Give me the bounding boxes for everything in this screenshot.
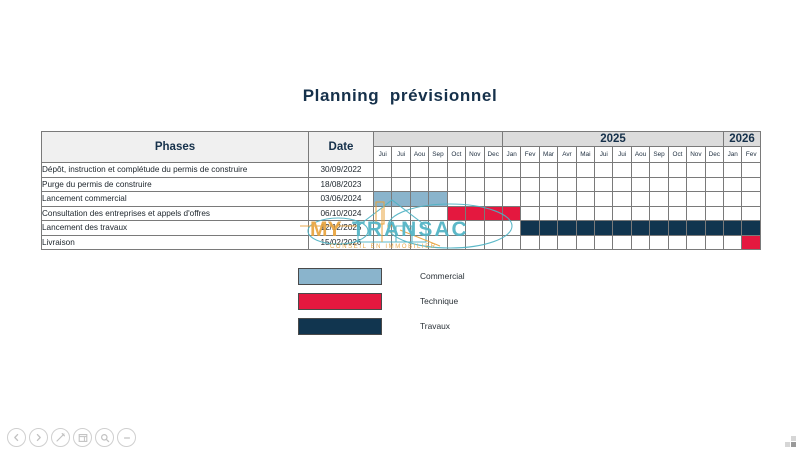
- phase-label: Lancement commercial: [42, 192, 309, 207]
- gantt-empty-cell: [650, 163, 668, 178]
- gantt-empty-cell: [558, 192, 576, 207]
- gantt-empty-cell: [631, 192, 649, 207]
- gantt-bar-segment-commercial: [429, 192, 447, 207]
- gantt-bar-segment-technique: [447, 206, 465, 221]
- legend-item-commercial: Commercial: [298, 268, 465, 284]
- gantt-empty-cell: [447, 163, 465, 178]
- gantt-empty-cell: [521, 206, 539, 221]
- table-row: Purge du permis de construire18/08/2023: [42, 177, 761, 192]
- gantt-empty-cell: [466, 163, 484, 178]
- phase-date: 18/08/2023: [309, 177, 374, 192]
- gantt-empty-cell: [668, 177, 686, 192]
- document-page: Planning prévisionnel Phases Date 202520…: [0, 0, 800, 425]
- legend-label-technique: Technique: [420, 296, 458, 306]
- gantt-empty-cell: [466, 221, 484, 236]
- month-header-2: Aou: [410, 147, 428, 163]
- gantt-empty-cell: [613, 206, 631, 221]
- year-group-2026: 2026: [724, 132, 761, 147]
- phase-date: 03/06/2024: [309, 192, 374, 207]
- column-header-date: Date: [309, 132, 374, 163]
- gantt-empty-cell: [650, 192, 668, 207]
- gantt-empty-cell: [502, 177, 520, 192]
- phase-date: 15/02/2026: [309, 235, 374, 250]
- month-header-16: Oct: [668, 147, 686, 163]
- gantt-bar-segment-technique: [466, 206, 484, 221]
- gantt-empty-cell: [429, 177, 447, 192]
- gantt-empty-cell: [668, 206, 686, 221]
- month-header-17: Nov: [687, 147, 705, 163]
- month-header-8: Fev: [521, 147, 539, 163]
- gantt-bar-segment-travaux: [668, 221, 686, 236]
- gantt-empty-cell: [484, 221, 502, 236]
- gantt-empty-cell: [521, 163, 539, 178]
- gantt-empty-cell: [466, 235, 484, 250]
- gantt-empty-cell: [484, 235, 502, 250]
- phase-label: Consultation des entreprises et appels d…: [42, 206, 309, 221]
- zoom-in-button[interactable]: [95, 428, 114, 447]
- gantt-bar-segment-travaux: [724, 221, 742, 236]
- gantt-empty-cell: [724, 192, 742, 207]
- phase-label: Purge du permis de construire: [42, 177, 309, 192]
- gantt-empty-cell: [631, 235, 649, 250]
- gantt-empty-cell: [705, 192, 723, 207]
- legend-label-commercial: Commercial: [420, 271, 465, 281]
- gantt-empty-cell: [447, 235, 465, 250]
- table-row: Lancement des travaux12/12/2025: [42, 221, 761, 236]
- gantt-empty-cell: [687, 206, 705, 221]
- gantt-empty-cell: [502, 192, 520, 207]
- gantt-empty-cell: [539, 163, 557, 178]
- chevron-right-icon: [34, 433, 43, 442]
- gantt-empty-cell: [410, 221, 428, 236]
- month-header-5: Nov: [466, 147, 484, 163]
- gantt-bar-segment-commercial: [374, 192, 392, 207]
- phase-date: 12/12/2025: [309, 221, 374, 236]
- legend-item-technique: Technique: [298, 293, 465, 309]
- month-header-3: Sep: [429, 147, 447, 163]
- gantt-empty-cell: [502, 235, 520, 250]
- phase-label: Dépôt, instruction et complétude du perm…: [42, 163, 309, 178]
- month-header-18: Dec: [705, 147, 723, 163]
- gantt-empty-cell: [705, 163, 723, 178]
- legend-swatch-technique: [298, 293, 382, 310]
- gantt-empty-cell: [595, 192, 613, 207]
- gantt-empty-cell: [502, 221, 520, 236]
- page-title: Planning prévisionnel: [0, 86, 800, 106]
- phase-date: 30/09/2022: [309, 163, 374, 178]
- table-head: Phases Date 20252026 JuiJuiAouSepOctNovD…: [42, 132, 761, 163]
- month-header-19: Jan: [724, 147, 742, 163]
- gantt-empty-cell: [687, 177, 705, 192]
- gantt-empty-cell: [613, 235, 631, 250]
- gantt-empty-cell: [466, 192, 484, 207]
- gantt-empty-cell: [742, 163, 761, 178]
- gantt-empty-cell: [447, 177, 465, 192]
- chevron-left-icon: [12, 433, 21, 442]
- gantt-empty-cell: [668, 235, 686, 250]
- legend-swatch-travaux: [298, 318, 382, 335]
- gantt-empty-cell: [429, 206, 447, 221]
- gantt-empty-cell: [484, 163, 502, 178]
- zoom-out-button[interactable]: [117, 428, 136, 447]
- month-header-13: Jui: [613, 147, 631, 163]
- gantt-empty-cell: [742, 177, 761, 192]
- gantt-empty-cell: [410, 235, 428, 250]
- gantt-empty-cell: [558, 206, 576, 221]
- gantt-empty-cell: [521, 192, 539, 207]
- year-group-2025: 2025: [502, 132, 723, 147]
- gantt-bar-segment-commercial: [410, 192, 428, 207]
- resize-grip[interactable]: [785, 436, 796, 447]
- pen-icon: [55, 432, 66, 443]
- gantt-empty-cell: [576, 177, 594, 192]
- gantt-empty-cell: [484, 177, 502, 192]
- gantt-empty-cell: [668, 192, 686, 207]
- gantt-empty-cell: [392, 177, 410, 192]
- viewer-toolbar[interactable]: [0, 425, 800, 450]
- gantt-empty-cell: [392, 235, 410, 250]
- month-header-20: Fev: [742, 147, 761, 163]
- gantt-empty-cell: [595, 177, 613, 192]
- fit-page-icon: [78, 433, 88, 443]
- minus-circle-icon: [122, 433, 132, 443]
- month-header-15: Sep: [650, 147, 668, 163]
- gantt-empty-cell: [558, 177, 576, 192]
- gantt-empty-cell: [429, 235, 447, 250]
- gantt-empty-cell: [687, 163, 705, 178]
- legend-label-travaux: Travaux: [420, 321, 450, 331]
- month-header-7: Jan: [502, 147, 520, 163]
- gantt-bar-segment-travaux: [631, 221, 649, 236]
- table-row: Lancement commercial03/06/2024: [42, 192, 761, 207]
- year-group-unlabeled-0: [374, 132, 503, 147]
- gantt-bar-segment-commercial: [392, 192, 410, 207]
- gantt-bar-segment-travaux: [613, 221, 631, 236]
- gantt-empty-cell: [539, 206, 557, 221]
- gantt-empty-cell: [374, 177, 392, 192]
- gantt-empty-cell: [392, 163, 410, 178]
- gantt-empty-cell: [576, 163, 594, 178]
- gantt-empty-cell: [650, 177, 668, 192]
- gantt-bar-segment-travaux: [595, 221, 613, 236]
- gantt-bar-segment-technique: [742, 235, 761, 250]
- gantt-empty-cell: [410, 206, 428, 221]
- month-header-0: Jui: [374, 147, 392, 163]
- gantt-empty-cell: [484, 192, 502, 207]
- gantt-empty-cell: [374, 206, 392, 221]
- gantt-bar-segment-travaux: [650, 221, 668, 236]
- gantt-empty-cell: [539, 235, 557, 250]
- gantt-empty-cell: [631, 206, 649, 221]
- month-header-14: Aou: [631, 147, 649, 163]
- gantt-empty-cell: [447, 192, 465, 207]
- gantt-empty-cell: [687, 192, 705, 207]
- previous-page-button[interactable]: [7, 428, 26, 447]
- gantt-empty-cell: [687, 235, 705, 250]
- phase-label: Livraison: [42, 235, 309, 250]
- year-header-row: Phases Date 20252026: [42, 132, 761, 147]
- table-row: Consultation des entreprises et appels d…: [42, 206, 761, 221]
- gantt-bar-segment-travaux: [521, 221, 539, 236]
- gantt-empty-cell: [539, 192, 557, 207]
- gantt-empty-cell: [613, 163, 631, 178]
- gantt-empty-cell: [705, 177, 723, 192]
- gantt-empty-cell: [742, 206, 761, 221]
- gantt-empty-cell: [724, 177, 742, 192]
- gantt-empty-cell: [576, 206, 594, 221]
- gantt-empty-cell: [613, 192, 631, 207]
- gantt-empty-cell: [392, 206, 410, 221]
- gantt-empty-cell: [521, 177, 539, 192]
- gantt-empty-cell: [429, 163, 447, 178]
- month-header-11: Mai: [576, 147, 594, 163]
- gantt-empty-cell: [650, 235, 668, 250]
- gantt-bar-segment-travaux: [539, 221, 557, 236]
- month-header-12: Jui: [595, 147, 613, 163]
- gantt-empty-cell: [650, 206, 668, 221]
- gantt-empty-cell: [613, 177, 631, 192]
- gantt-chart-table: Phases Date 20252026 JuiJuiAouSepOctNovD…: [41, 131, 761, 250]
- gantt-empty-cell: [558, 235, 576, 250]
- gantt-empty-cell: [374, 221, 392, 236]
- column-header-phases: Phases: [42, 132, 309, 163]
- gantt-bar-segment-technique: [484, 206, 502, 221]
- gantt-empty-cell: [558, 163, 576, 178]
- gantt-bar-segment-travaux: [558, 221, 576, 236]
- gantt-empty-cell: [447, 221, 465, 236]
- gantt-bar-segment-technique: [502, 206, 520, 221]
- month-header-9: Mar: [539, 147, 557, 163]
- gantt-empty-cell: [502, 163, 520, 178]
- gantt-empty-cell: [595, 163, 613, 178]
- gantt-empty-cell: [724, 206, 742, 221]
- gantt-bar-segment-travaux: [576, 221, 594, 236]
- gantt-empty-cell: [521, 235, 539, 250]
- gantt-bar-segment-travaux: [687, 221, 705, 236]
- gantt-empty-cell: [410, 163, 428, 178]
- gantt-empty-cell: [631, 163, 649, 178]
- month-header-10: Avr: [558, 147, 576, 163]
- gantt-empty-cell: [429, 221, 447, 236]
- annotate-button[interactable]: [51, 428, 70, 447]
- next-page-button[interactable]: [29, 428, 48, 447]
- phase-label: Lancement des travaux: [42, 221, 309, 236]
- table-row: Dépôt, instruction et complétude du perm…: [42, 163, 761, 178]
- month-header-6: Dec: [484, 147, 502, 163]
- gantt-empty-cell: [392, 221, 410, 236]
- gantt-empty-cell: [631, 177, 649, 192]
- gantt-empty-cell: [466, 177, 484, 192]
- fit-page-button[interactable]: [73, 428, 92, 447]
- gantt-empty-cell: [724, 163, 742, 178]
- magnifier-icon: [100, 433, 110, 443]
- gantt-empty-cell: [705, 235, 723, 250]
- table-body: Dépôt, instruction et complétude du perm…: [42, 163, 761, 250]
- gantt-empty-cell: [374, 163, 392, 178]
- gantt-empty-cell: [374, 235, 392, 250]
- phase-date: 06/10/2024: [309, 206, 374, 221]
- table-row: Livraison15/02/2026: [42, 235, 761, 250]
- gantt-bar-segment-travaux: [705, 221, 723, 236]
- month-header-4: Oct: [447, 147, 465, 163]
- gantt-empty-cell: [576, 192, 594, 207]
- gantt-empty-cell: [595, 235, 613, 250]
- gantt-empty-cell: [576, 235, 594, 250]
- legend-swatch-commercial: [298, 268, 382, 285]
- gantt-empty-cell: [724, 235, 742, 250]
- gantt-empty-cell: [410, 177, 428, 192]
- gantt-empty-cell: [539, 177, 557, 192]
- gantt-bar-segment-travaux: [742, 221, 761, 236]
- legend-item-travaux: Travaux: [298, 318, 465, 334]
- gantt-empty-cell: [705, 206, 723, 221]
- gantt-empty-cell: [742, 192, 761, 207]
- legend: CommercialTechniqueTravaux: [298, 268, 465, 343]
- gantt-empty-cell: [668, 163, 686, 178]
- month-header-1: Jui: [392, 147, 410, 163]
- gantt-empty-cell: [595, 206, 613, 221]
